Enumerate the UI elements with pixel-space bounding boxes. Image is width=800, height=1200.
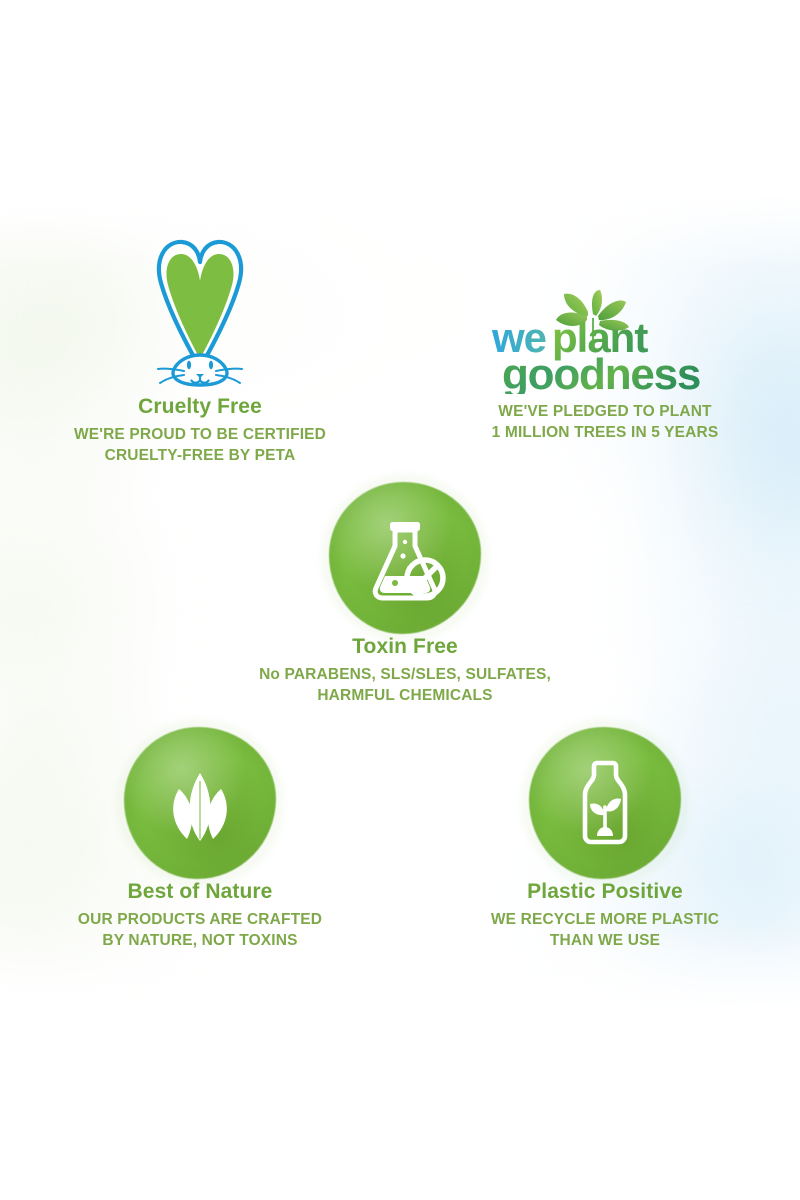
badge-icon-holder	[10, 725, 390, 880]
badge-description: No PARABENS, SLS/SLES, SULFATES, HARMFUL…	[215, 665, 595, 707]
badge-description: WE RECYCLE MORE PLASTIC THAN WE USE	[420, 910, 790, 952]
badge-cruelty-free: Cruelty Free WE'RE PROUD TO BE CERTIFIED…	[10, 230, 390, 467]
peta-bunny-heart-icon	[134, 237, 266, 389]
badge-description-line: 1 MILLION TREES IN 5 YEARS	[492, 424, 719, 441]
bottle-sprout-icon	[559, 757, 651, 849]
badge-description: OUR PRODUCTS ARE CRAFTED BY NATURE, NOT …	[10, 910, 390, 952]
badge-best-of-nature: Best of Nature OUR PRODUCTS ARE CRAFTED …	[10, 725, 390, 952]
watercolor-disc	[329, 482, 481, 634]
badge-we-plant-goodness: we plant goodness WE'VE PLEDGED TO PLANT…	[420, 285, 790, 444]
brand-promise-canvas: Cruelty Free WE'RE PROUD TO BE CERTIFIED…	[0, 0, 800, 1200]
badge-icon-holder	[420, 725, 790, 880]
badge-description: WE'VE PLEDGED TO PLANT 1 MILLION TREES I…	[420, 402, 790, 444]
badge-toxin-free: Toxin Free No PARABENS, SLS/SLES, SULFAT…	[215, 480, 595, 707]
badge-description-line: WE'VE PLEDGED TO PLANT	[498, 403, 711, 420]
badge-description: WE'RE PROUD TO BE CERTIFIED CRUELTY-FREE…	[10, 425, 390, 467]
badge-icon-holder	[10, 230, 390, 395]
flask-no-toxins-icon	[359, 512, 451, 604]
badge-description-line: CRUELTY-FREE BY PETA	[105, 447, 296, 464]
badge-grid: Cruelty Free WE'RE PROUD TO BE CERTIFIED…	[0, 0, 800, 1200]
svg-text:goodness: goodness	[502, 350, 700, 394]
three-leaves-icon	[154, 757, 246, 849]
badge-icon-holder	[215, 480, 595, 635]
badge-title: Cruelty Free	[10, 395, 390, 418]
badge-description-line: No PARABENS, SLS/SLES, SULFATES,	[259, 666, 551, 683]
badge-plastic-positive: Plastic Positive WE RECYCLE MORE PLASTIC…	[420, 725, 790, 952]
badge-icon-holder: we plant goodness	[420, 285, 790, 395]
badge-description-line: WE RECYCLE MORE PLASTIC	[491, 911, 719, 928]
badge-description-line: HARMFUL CHEMICALS	[317, 687, 492, 704]
watercolor-disc	[124, 727, 276, 879]
badge-description-line: THAN WE USE	[550, 932, 660, 949]
badge-description-line: WE'RE PROUD TO BE CERTIFIED	[74, 426, 326, 443]
badge-description-line: BY NATURE, NOT TOXINS	[102, 932, 297, 949]
we-plant-goodness-logo: we plant goodness	[490, 290, 720, 390]
badge-description-line: OUR PRODUCTS ARE CRAFTED	[78, 911, 322, 928]
watercolor-disc	[529, 727, 681, 879]
